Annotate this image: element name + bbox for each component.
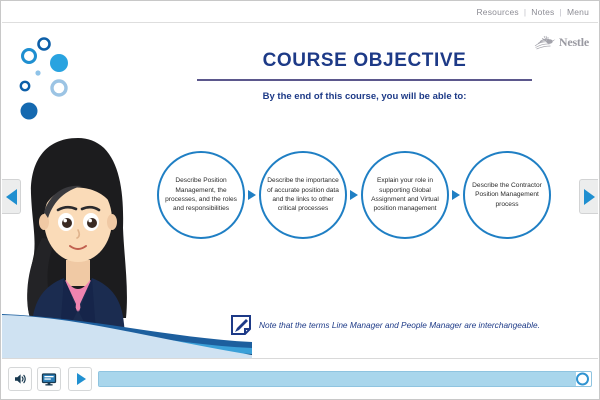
next-slide-button[interactable] (579, 179, 598, 214)
arrow-right-icon (347, 190, 361, 200)
nestle-wordmark: Nestle (559, 35, 589, 50)
nestle-logo: Nestle (534, 34, 589, 51)
captions-button[interactable] (37, 367, 61, 391)
note-pen-icon (230, 314, 252, 336)
previous-slide-button[interactable] (2, 179, 21, 214)
slide-stage: COURSE OBJECTIVE By the end of this cour… (2, 2, 598, 358)
nav-separator: | (560, 7, 562, 17)
captions-icon (41, 372, 57, 386)
objective-circle-2[interactable]: Describe the importance of accurate posi… (259, 151, 347, 239)
speaker-icon (13, 372, 27, 386)
arrow-right-icon (449, 190, 463, 200)
play-button[interactable] (68, 367, 92, 391)
title-divider (197, 79, 532, 81)
objective-circle-3[interactable]: Explain your role in supporting Global A… (361, 151, 449, 239)
header-divider (2, 22, 598, 23)
play-icon (77, 373, 86, 385)
top-navigation: Resources | Notes | Menu (476, 7, 589, 17)
seek-bar[interactable] (98, 371, 592, 387)
nest-bird-icon (534, 34, 556, 51)
page-title: COURSE OBJECTIVE (197, 50, 532, 72)
nav-item-resources[interactable]: Resources (476, 7, 518, 17)
arrow-right-icon (245, 190, 259, 200)
chevron-right-icon (584, 189, 595, 205)
objective-text: Describe Position Management, the proces… (165, 176, 237, 213)
nav-item-menu[interactable]: Menu (567, 7, 589, 17)
note-strip: Note that the terms Line Manager and Peo… (230, 314, 540, 336)
chevron-left-icon (6, 189, 17, 205)
player-control-bar (2, 358, 598, 398)
note-text: Note that the terms Line Manager and Peo… (259, 320, 540, 330)
nav-separator: | (524, 7, 526, 17)
objective-text: Explain your role in supporting Global A… (369, 176, 441, 213)
title-block: COURSE OBJECTIVE By the end of this cour… (197, 50, 532, 102)
seek-handle[interactable] (576, 372, 589, 385)
decorative-bubbles (10, 32, 88, 132)
page-subtitle: By the end of this course, you will be a… (197, 91, 532, 102)
wave-decoration (2, 268, 252, 358)
objective-text: Describe the Contractor Position Managem… (471, 181, 543, 209)
objective-circle-4[interactable]: Describe the Contractor Position Managem… (463, 151, 551, 239)
seek-progress-fill (99, 372, 576, 386)
course-player: Resources | Notes | Menu Nestle (0, 0, 600, 400)
nav-item-notes[interactable]: Notes (531, 7, 554, 17)
objective-text: Describe the importance of accurate posi… (267, 176, 339, 213)
objective-circle-1[interactable]: Describe Position Management, the proces… (157, 151, 245, 239)
objectives-row: Describe Position Management, the proces… (157, 143, 562, 247)
volume-button[interactable] (8, 367, 32, 391)
